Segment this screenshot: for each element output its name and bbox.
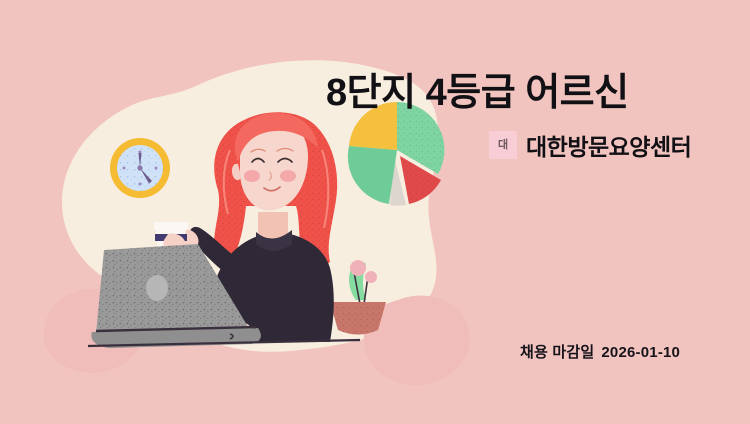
clock-tick-6 — [139, 183, 142, 186]
flower-ball-2 — [365, 271, 377, 283]
flower-ball-1 — [350, 260, 366, 276]
blush-left — [244, 170, 260, 182]
clock-tick-3 — [155, 167, 158, 170]
blush-right — [280, 170, 296, 182]
clock-center — [137, 165, 142, 170]
laptop-logo — [146, 275, 168, 301]
company-row: 대 대한방문요양센터 — [489, 128, 691, 162]
company-logo-badge: 대 — [489, 131, 517, 159]
page-title: 8단지 4등급 어르신 — [326, 72, 726, 115]
clock-tick-9 — [123, 167, 126, 170]
cup-lid — [154, 222, 188, 230]
wall-clock — [110, 138, 170, 198]
pie-chart-decoration — [348, 102, 445, 206]
job-posting-banner: 8단지 4등급 어르신 대 대한방문요양센터 채용 마감일2026-01-10 — [0, 0, 750, 424]
deadline-text: 채용 마감일2026-01-10 — [520, 341, 680, 362]
deadline-date: 2026-01-10 — [601, 344, 680, 361]
deadline-label: 채용 마감일 — [520, 344, 594, 361]
company-name: 대한방문요양센터 — [526, 128, 691, 162]
